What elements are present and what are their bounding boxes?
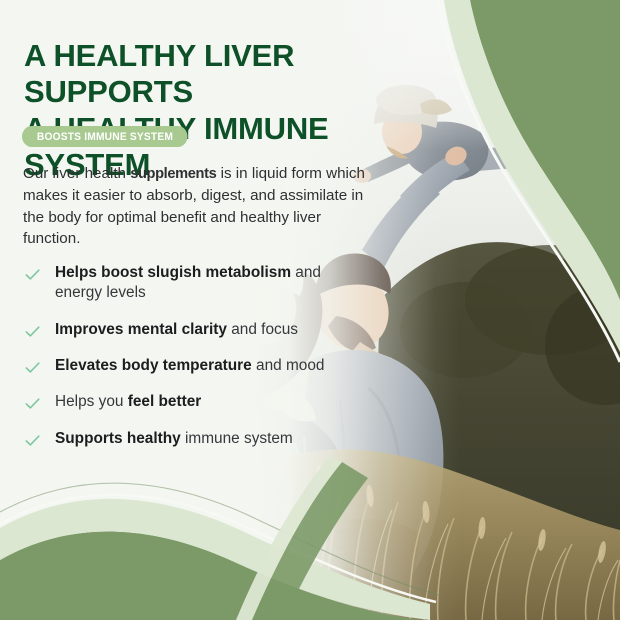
paragraph-emphasis: supplements (130, 166, 216, 182)
check-icon (23, 431, 42, 450)
paragraph-part-1: Our liver health (23, 165, 130, 182)
promotional-poster: A HEALTHY LIVER SUPPORTS A HEALTHY IMMUN… (0, 0, 620, 620)
check-icon (23, 358, 42, 377)
list-item: Supports healthy immune system (23, 429, 353, 449)
list-item: Improves mental clarity and focus (23, 320, 353, 340)
benefits-list: Helps boost slugish metabolism and energ… (23, 263, 353, 449)
bullet-rest: and mood (252, 357, 325, 374)
bullet-lead: Helps boost slugish metabolism (55, 264, 291, 281)
bullet-lead: Supports healthy (55, 430, 181, 447)
status-badge: BOOSTS IMMUNE SYSTEM (22, 126, 188, 147)
bullet-rest: immune system (181, 430, 293, 447)
bullet-lead: feel better (128, 393, 202, 410)
bullet-rest: Helps you (55, 393, 128, 410)
text-content: A HEALTHY LIVER SUPPORTS A HEALTHY IMMUN… (0, 0, 420, 620)
list-item: Helps you feel better (23, 392, 353, 412)
bullet-lead: Improves mental clarity (55, 321, 227, 338)
check-icon (23, 322, 42, 341)
intro-paragraph: Our liver health supplements is in liqui… (23, 163, 379, 250)
list-item: Helps boost slugish metabolism and energ… (23, 263, 353, 304)
check-icon (23, 394, 42, 413)
check-icon (23, 265, 42, 284)
page-title: A HEALTHY LIVER SUPPORTS A HEALTHY IMMUN… (24, 38, 424, 183)
bullet-rest: and focus (227, 321, 298, 338)
bullet-lead: Elevates body temperature (55, 357, 252, 374)
list-item: Elevates body temperature and mood (23, 356, 353, 376)
